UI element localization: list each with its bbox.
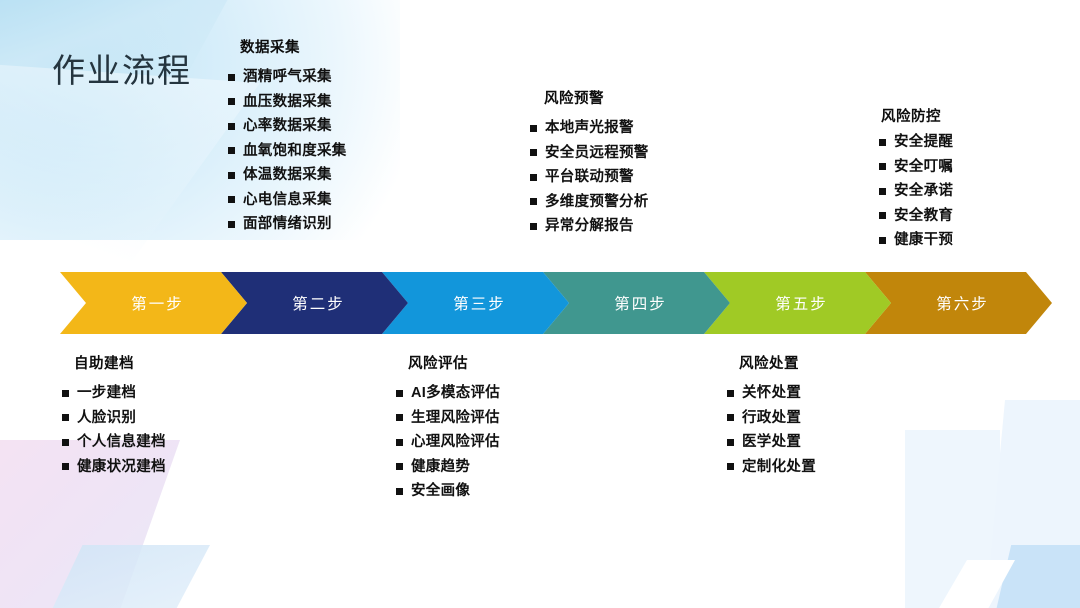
step-chevron-3[interactable]: 第三步 [382,272,569,334]
list-item-label: 本地声光报警 [545,121,634,136]
bullet-square-icon [62,414,69,421]
list-item: 心率数据采集 [228,119,347,134]
list-risk-control: 安全提醒 安全叮嘱 安全承诺 安全教育 健康干预 [879,135,953,248]
list-item: 多维度预警分析 [530,195,649,210]
list-item-label: 安全员远程预警 [545,146,649,161]
list-item-label: 面部情绪识别 [243,217,332,232]
list-item-label: 个人信息建档 [77,435,166,450]
list-item-label: 酒精呼气采集 [243,70,332,85]
list-item: 血氧饱和度采集 [228,144,347,159]
list-item-label: 健康趋势 [411,460,470,475]
list-item-label: 安全教育 [894,209,953,224]
bullet-square-icon [530,198,537,205]
block-title-data-collection: 数据采集 [240,36,347,57]
step-label: 第六步 [936,292,989,314]
bullet-square-icon [530,223,537,230]
list-item-label: 行政处置 [742,411,801,426]
list-item-label: 健康干预 [894,233,953,248]
list-item-label: 安全承诺 [894,184,953,199]
list-item-label: 安全叮嘱 [894,160,953,175]
list-item: 安全画像 [396,484,500,499]
list-item: 平台联动预警 [530,170,649,185]
list-item: 安全员远程预警 [530,146,649,161]
list-item: 心理风险评估 [396,435,500,450]
bullet-square-icon [396,488,403,495]
list-item-label: 血压数据采集 [243,95,332,110]
list-item: 个人信息建档 [62,435,166,450]
bottom-right-shape-three [995,545,1080,608]
page-title: 作业流程 [52,44,192,92]
list-item: 安全教育 [879,209,953,224]
list-item-label: 平台联动预警 [545,170,634,185]
step-label: 第二步 [292,292,345,314]
list-item-label: 安全画像 [411,484,470,499]
list-item: 关怀处置 [727,386,816,401]
list-item-label: 生理风险评估 [411,411,500,426]
list-item-label: 健康状况建档 [77,460,166,475]
block-risk-warning: 风险预警 本地声光报警 安全员远程预警 平台联动预警 多维度预警分析 异常分解报… [530,87,649,244]
block-title-risk-control: 风险防控 [881,105,953,126]
list-item-label: AI多模态评估 [411,386,500,401]
bullet-square-icon [228,123,235,130]
bullet-square-icon [727,463,734,470]
bottom-right-shape-two [985,400,1080,608]
step-chevron-2[interactable]: 第二步 [221,272,408,334]
step-label: 第四步 [614,292,667,314]
bullet-square-icon [727,390,734,397]
bottom-right-shape-four [935,560,1015,608]
list-risk-assessment: AI多模态评估 生理风险评估 心理风险评估 健康趋势 安全画像 [396,386,500,499]
list-item-label: 定制化处置 [742,460,816,475]
bullet-square-icon [62,439,69,446]
list-item: 安全提醒 [879,135,953,150]
step-chevron-1[interactable]: 第一步 [60,272,247,334]
step-chevron-5[interactable]: 第五步 [704,272,891,334]
list-item-label: 心电信息采集 [243,193,332,208]
bullet-square-icon [727,414,734,421]
step-chevron-4[interactable]: 第四步 [543,272,730,334]
block-self-archive: 自助建档 一步建档 人脸识别 个人信息建档 健康状况建档 [62,352,166,484]
bottom-right-shape-one [905,430,1000,608]
top-left-soft-shape [0,60,260,290]
bullet-square-icon [879,139,886,146]
step-label: 第一步 [131,292,184,314]
bullet-square-icon [396,463,403,470]
bullet-square-icon [879,212,886,219]
bullet-square-icon [879,188,886,195]
bullet-square-icon [228,196,235,203]
list-item: 酒精呼气采集 [228,70,347,85]
bullet-square-icon [228,98,235,105]
bullet-square-icon [530,149,537,156]
block-data-collection: 数据采集 酒精呼气采集 血压数据采集 心率数据采集 血氧饱和度采集 体温数据采集… [228,36,347,242]
list-data-collection: 酒精呼气采集 血压数据采集 心率数据采集 血氧饱和度采集 体温数据采集 心电信息… [228,70,347,232]
block-title-risk-assessment: 风险评估 [408,352,500,373]
list-item: 异常分解报告 [530,219,649,234]
bullet-square-icon [228,221,235,228]
block-title-self-archive: 自助建档 [74,352,166,373]
list-item-label: 心率数据采集 [243,119,332,134]
list-item-label: 多维度预警分析 [545,195,649,210]
bullet-square-icon [530,125,537,132]
list-self-archive: 一步建档 人脸识别 个人信息建档 健康状况建档 [62,386,166,474]
list-item-label: 关怀处置 [742,386,801,401]
bullet-square-icon [228,74,235,81]
list-item: AI多模态评估 [396,386,500,401]
list-risk-disposal: 关怀处置 行政处置 医学处置 定制化处置 [727,386,816,474]
list-item: 安全叮嘱 [879,160,953,175]
list-item: 面部情绪识别 [228,217,347,232]
list-item: 健康趋势 [396,460,500,475]
step-label: 第五步 [775,292,828,314]
step-chevron-6[interactable]: 第六步 [865,272,1052,334]
step-label: 第三步 [453,292,506,314]
bullet-square-icon [396,414,403,421]
list-item-label: 安全提醒 [894,135,953,150]
bullet-square-icon [530,174,537,181]
list-item: 健康干预 [879,233,953,248]
block-risk-control: 风险防控 安全提醒 安全叮嘱 安全承诺 安全教育 健康干预 [879,105,953,258]
list-item: 生理风险评估 [396,411,500,426]
bullet-square-icon [62,463,69,470]
list-item: 心电信息采集 [228,193,347,208]
bottom-left-blue-shape [40,545,210,608]
bullet-square-icon [228,147,235,154]
list-item: 体温数据采集 [228,168,347,183]
bullet-square-icon [396,390,403,397]
list-item: 医学处置 [727,435,816,450]
bullet-square-icon [879,163,886,170]
list-item-label: 异常分解报告 [545,219,634,234]
list-item-label: 医学处置 [742,435,801,450]
bullet-square-icon [228,172,235,179]
bullet-square-icon [62,390,69,397]
block-title-risk-warning: 风险预警 [544,87,649,108]
block-risk-assessment: 风险评估 AI多模态评估 生理风险评估 心理风险评估 健康趋势 安全画像 [396,352,500,509]
list-item: 人脸识别 [62,411,166,426]
list-item: 安全承诺 [879,184,953,199]
list-item-label: 人脸识别 [77,411,136,426]
slide-canvas: 作业流程 数据采集 酒精呼气采集 血压数据采集 心率数据采集 血氧饱和度采集 体… [0,0,1080,608]
block-risk-disposal: 风险处置 关怀处置 行政处置 医学处置 定制化处置 [727,352,816,484]
list-item: 定制化处置 [727,460,816,475]
list-item: 健康状况建档 [62,460,166,475]
block-title-risk-disposal: 风险处置 [739,352,816,373]
list-item-label: 血氧饱和度采集 [243,144,347,159]
list-item: 行政处置 [727,411,816,426]
list-item-label: 体温数据采集 [243,168,332,183]
list-risk-warning: 本地声光报警 安全员远程预警 平台联动预警 多维度预警分析 异常分解报告 [530,121,649,234]
list-item-label: 心理风险评估 [411,435,500,450]
list-item-label: 一步建档 [77,386,136,401]
bullet-square-icon [879,237,886,244]
process-step-band: 第一步 第二步 第三步 第四步 第五步 第六步 [60,272,1052,334]
bullet-square-icon [727,439,734,446]
list-item: 一步建档 [62,386,166,401]
bullet-square-icon [396,439,403,446]
list-item: 本地声光报警 [530,121,649,136]
list-item: 血压数据采集 [228,95,347,110]
